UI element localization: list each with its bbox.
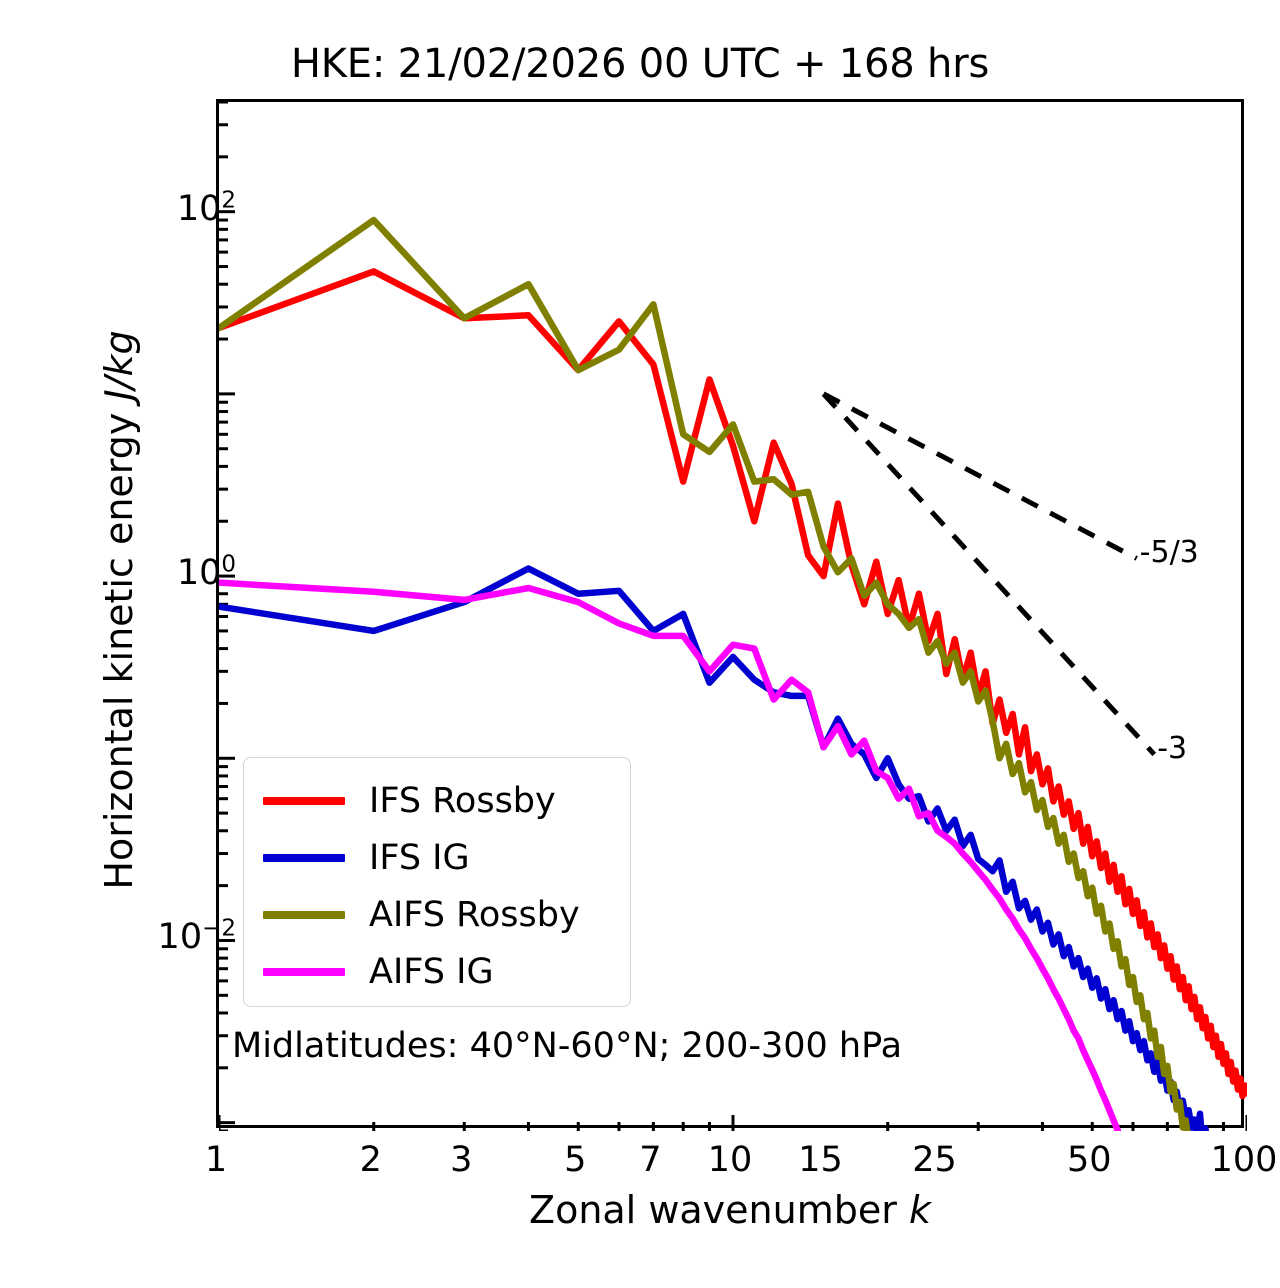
x-tick-label: 1 — [205, 1140, 227, 1180]
x-tick-label: 2 — [360, 1140, 382, 1180]
x-tick-label: 15 — [798, 1140, 843, 1180]
legend[interactable]: IFS RossbyIFS IGAIFS RossbyAIFS IG — [243, 757, 631, 1007]
legend-item[interactable]: IFS IG — [244, 829, 630, 886]
y-tick-label: 100 — [177, 553, 236, 593]
x-tick-label: 5 — [564, 1140, 586, 1180]
reference-slope-line — [824, 394, 1137, 559]
x-tick-label: 50 — [1067, 1140, 1112, 1180]
legend-item[interactable]: IFS Rossby — [244, 772, 630, 829]
legend-item-label: AIFS Rossby — [369, 896, 580, 934]
y-tick-label: 102 — [177, 189, 236, 229]
x-tick-label: 10 — [708, 1140, 753, 1180]
legend-item-label: IFS IG — [369, 839, 470, 877]
legend-item-label: AIFS IG — [369, 953, 494, 991]
legend-item-label: IFS Rossby — [369, 782, 556, 820]
legend-color-swatch — [263, 797, 345, 805]
region-annotation: Midlatitudes: 40°N-60°N; 200-300 hPa — [232, 1026, 902, 1066]
x-tick-label: 7 — [639, 1140, 661, 1180]
slope-annotation-label: -3 — [1157, 731, 1187, 766]
y-axis-label-wrapper: Horizontal kinetic energy J/kg — [98, 0, 158, 1140]
x-tick-label: 3 — [450, 1140, 472, 1180]
slope-annotation-label: -5/3 — [1140, 535, 1199, 570]
legend-item[interactable]: AIFS Rossby — [244, 886, 630, 943]
x-tick-label: 100 — [1211, 1140, 1278, 1180]
y-axis-label: Horizontal kinetic energy J/kg — [98, 80, 140, 1140]
x-tick-label: 25 — [912, 1140, 957, 1180]
page-title: HKE: 21/02/2026 00 UTC + 168 hrs — [0, 41, 1280, 87]
legend-color-swatch — [263, 854, 345, 862]
x-axis-label: Zonal wavenumber k — [216, 1188, 1244, 1232]
legend-color-swatch — [263, 968, 345, 976]
chart-page: HKE: 21/02/2026 00 UTC + 168 hrs 1235710… — [0, 0, 1280, 1288]
y-tick-label: 10−2 — [158, 917, 236, 957]
legend-color-swatch — [263, 911, 345, 919]
legend-item[interactable]: AIFS IG — [244, 943, 630, 1000]
